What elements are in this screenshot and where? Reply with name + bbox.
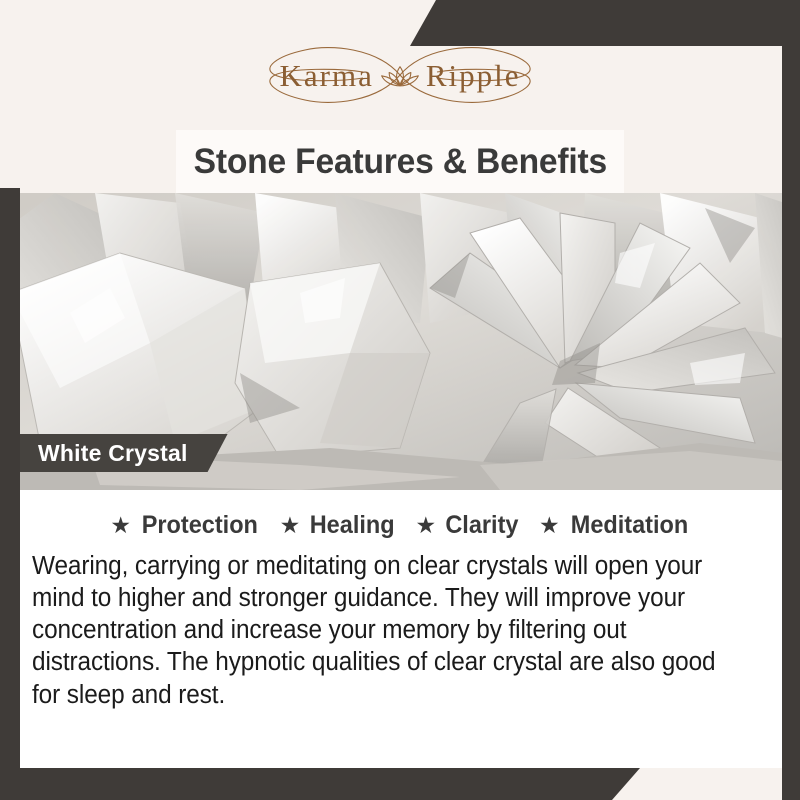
frame-accent-bottom bbox=[0, 768, 640, 800]
feature-item-healing: ★ Healing bbox=[280, 511, 398, 540]
title-panel: Stone Features & Benefits bbox=[176, 130, 624, 193]
page-title: Stone Features & Benefits bbox=[193, 142, 606, 182]
feature-list: ★ Protection ★ Healing ★ Clarity ★ Medit… bbox=[20, 490, 782, 546]
logo-word-right: Ripple bbox=[426, 60, 521, 91]
logo-wrap: Karma Ripple bbox=[235, 42, 565, 108]
stone-name-banner: White Crystal bbox=[20, 434, 228, 472]
brand-logo: Karma Ripple bbox=[0, 36, 800, 114]
star-icon: ★ bbox=[416, 514, 437, 537]
feature-item-clarity: ★ Clarity bbox=[416, 511, 521, 540]
star-icon: ★ bbox=[110, 514, 131, 537]
stone-photo: White Crystal bbox=[0, 193, 800, 490]
frame-accent-top-right bbox=[410, 0, 800, 46]
feature-label: Healing bbox=[310, 511, 395, 540]
infographic-card: Karma Ripple Stone Features & Benefits bbox=[0, 0, 800, 800]
frame-accent-left bbox=[0, 188, 20, 800]
feature-item-meditation: ★ Meditation bbox=[539, 511, 692, 540]
lotus-icon bbox=[380, 58, 420, 92]
content-inner: ★ Protection ★ Healing ★ Clarity ★ Medit… bbox=[20, 490, 782, 711]
stone-description: Wearing, carrying or meditating on clear… bbox=[32, 550, 737, 711]
feature-label: Clarity bbox=[446, 511, 519, 540]
star-icon: ★ bbox=[280, 514, 301, 537]
logo-text: Karma Ripple bbox=[279, 58, 520, 92]
feature-label: Meditation bbox=[570, 511, 688, 540]
feature-label: Protection bbox=[142, 511, 258, 540]
stone-name: White Crystal bbox=[38, 440, 188, 467]
frame-accent-right bbox=[782, 46, 800, 800]
content-panel: ★ Protection ★ Healing ★ Clarity ★ Medit… bbox=[20, 490, 782, 768]
star-icon: ★ bbox=[539, 514, 560, 537]
feature-item-protection: ★ Protection bbox=[110, 511, 261, 540]
logo-word-left: Karma bbox=[279, 60, 373, 91]
